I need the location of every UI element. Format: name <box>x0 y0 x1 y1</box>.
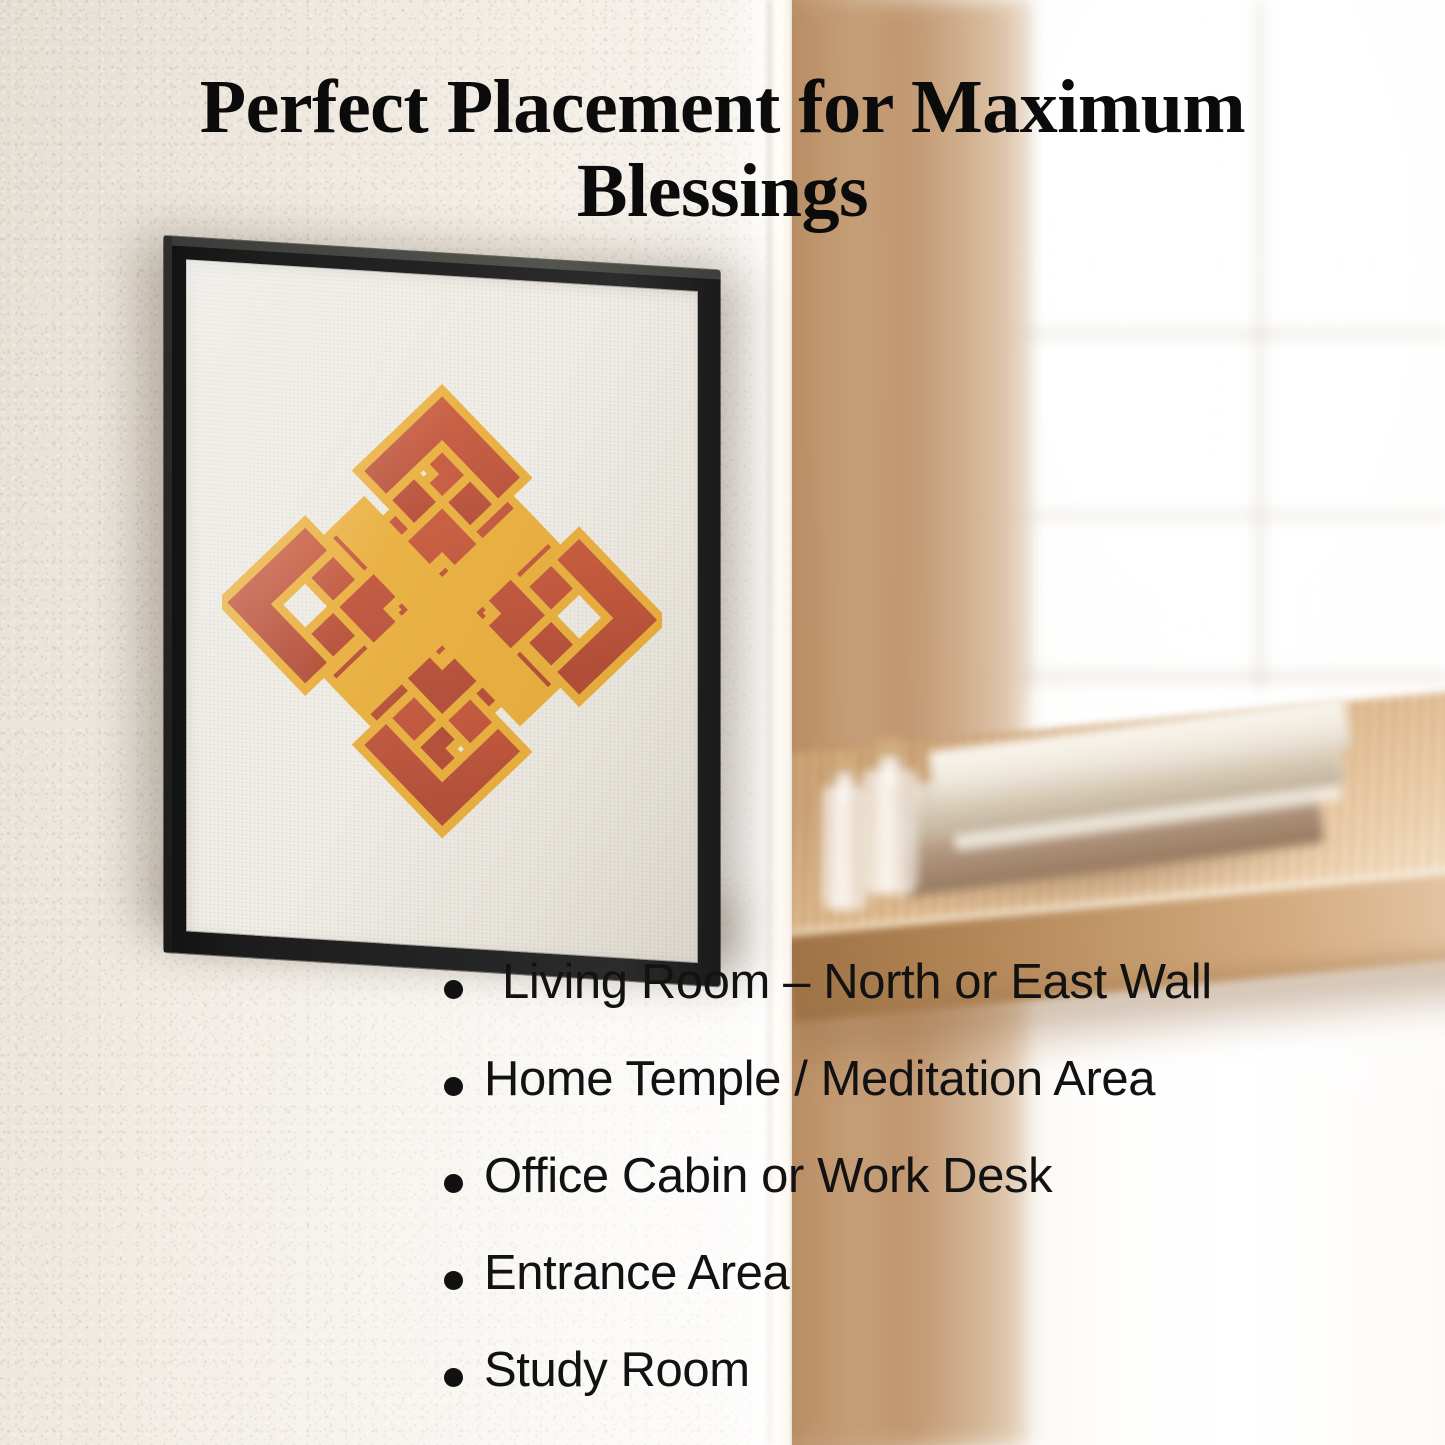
list-item-label: Living Room – North or East Wall <box>484 958 1212 1007</box>
bullet-icon <box>444 1368 463 1387</box>
list-item-label: Entrance Area <box>484 1249 789 1298</box>
placement-list: Living Room – North or East Wall Home Te… <box>444 958 1404 1443</box>
list-item: Living Room – North or East Wall <box>444 958 1404 1055</box>
framed-artwork <box>164 236 720 986</box>
bottle-body <box>862 770 918 894</box>
window-mullion <box>978 512 1445 519</box>
canvas <box>186 259 698 963</box>
list-item: Office Cabin or Work Desk <box>444 1152 1404 1249</box>
bullet-icon <box>444 1174 463 1193</box>
bullet-icon <box>444 1077 463 1096</box>
page-title: Perfect Placement for Maximum Blessings <box>0 66 1445 233</box>
list-item: Home Temple / Meditation Area <box>444 1055 1404 1152</box>
list-item-label: Office Cabin or Work Desk <box>484 1152 1052 1201</box>
list-item: Entrance Area <box>444 1249 1404 1346</box>
bottle-cork <box>833 756 857 772</box>
window-mullion <box>978 672 1445 681</box>
promo-image: Perfect Placement for Maximum Blessings … <box>0 0 1445 1445</box>
list-item-label: Home Temple / Meditation Area <box>484 1055 1155 1104</box>
bullet-icon <box>444 980 463 999</box>
list-item-label: Study Room <box>484 1346 750 1395</box>
frame-left-bevel <box>164 236 172 952</box>
canvas-lighting <box>186 259 698 963</box>
glass-bottle <box>862 744 918 916</box>
window-mullion <box>978 330 1445 338</box>
bullet-icon <box>444 1271 463 1290</box>
list-item: Study Room <box>444 1346 1404 1443</box>
bottle-cork <box>875 740 904 756</box>
